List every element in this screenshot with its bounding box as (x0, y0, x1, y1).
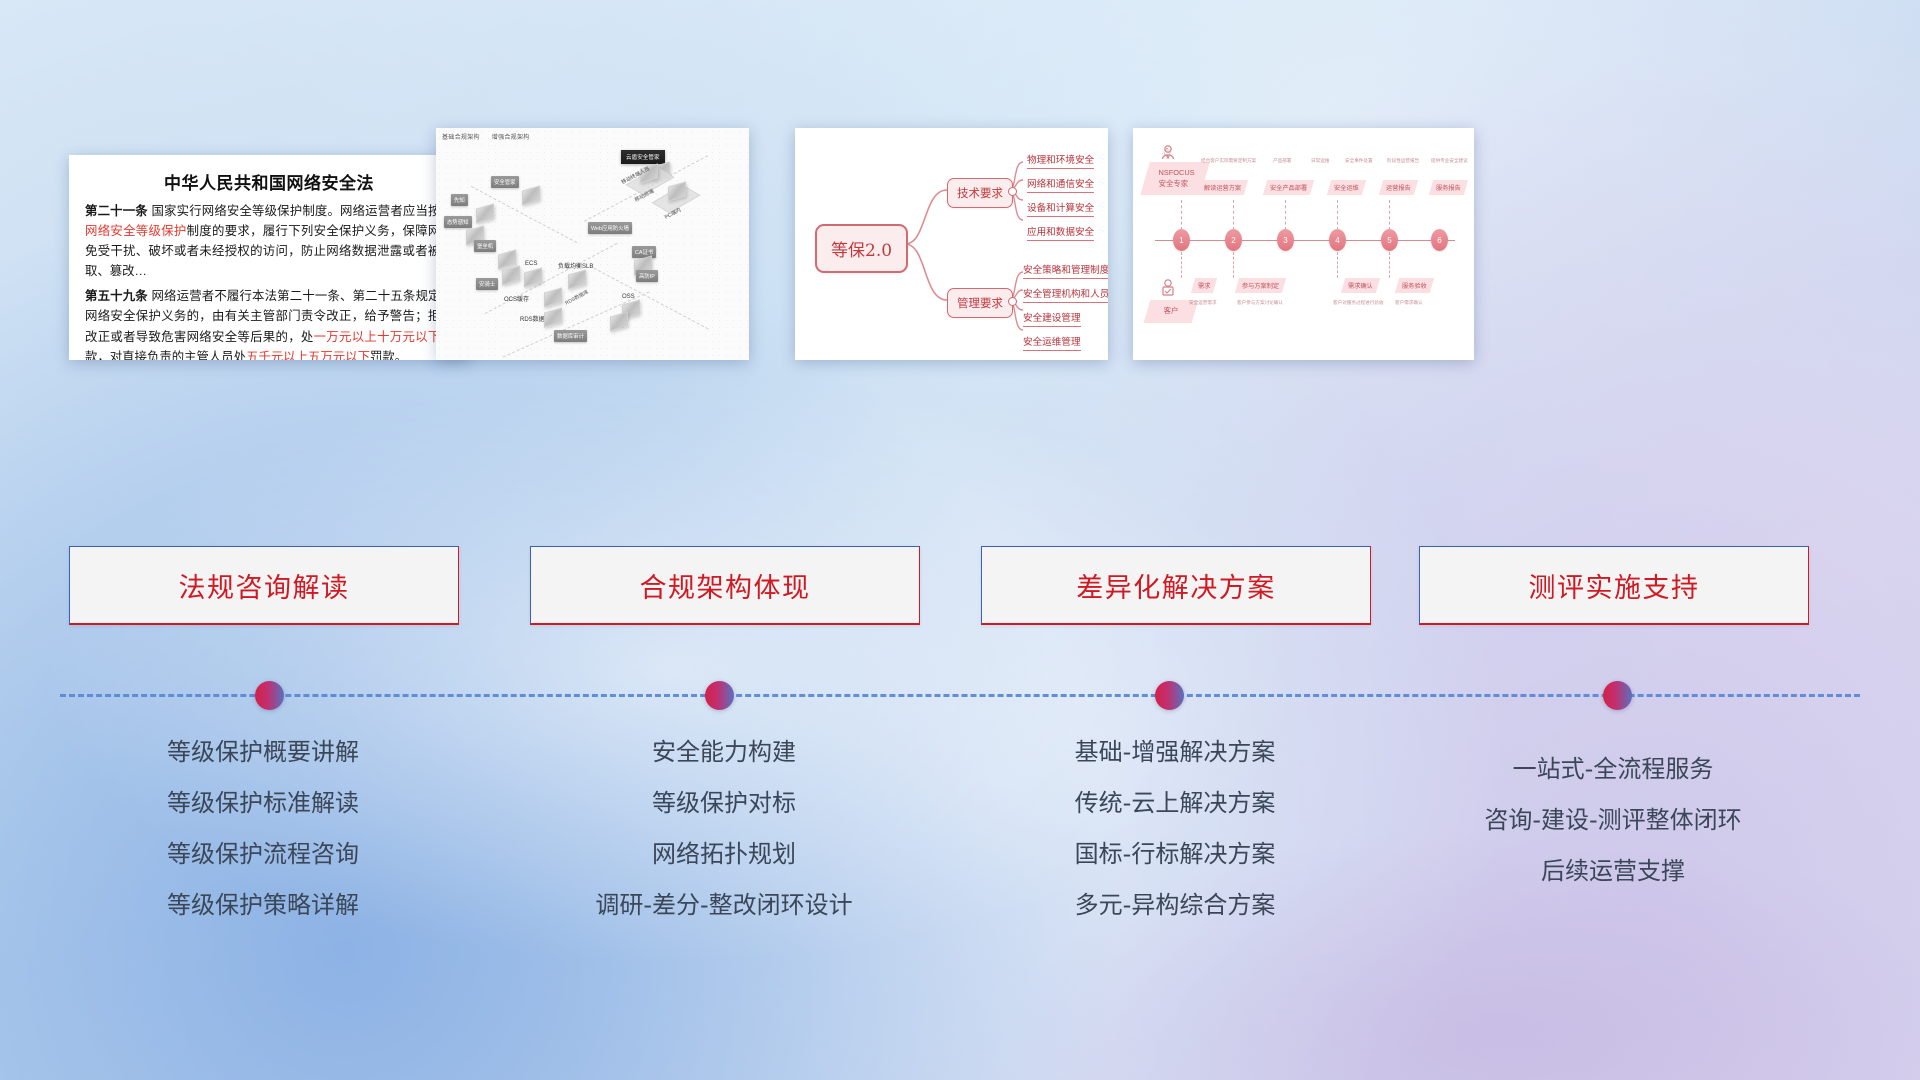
header-box-2[interactable]: 合规架构体现 (530, 546, 920, 625)
list-item: 等级保护标准解读 (69, 791, 457, 815)
list-item: 多元-异构综合方案 (981, 893, 1369, 917)
stage-tag-label: 运营报告 (1386, 183, 1411, 192)
timeline-step: 4 (1329, 229, 1346, 251)
node-anqishi: 安骑士 (476, 278, 498, 290)
timeline-step: 3 (1277, 229, 1294, 251)
stage-tag-bottom: 服务验收 (1395, 278, 1434, 293)
mindmap-leaf: 安全运维管理 (1023, 334, 1081, 351)
law-title: 中华人民共和国网络安全法 (85, 169, 453, 194)
timeline-connector (1233, 252, 1234, 278)
timeline-connector (1233, 200, 1234, 230)
list-item: 调研-差分-整改闭环设计 (530, 893, 918, 917)
column-2: 安全能力构建 等级保护对标 网络拓扑规划 调研-差分-整改闭环设计 (530, 740, 918, 944)
column-4: 一站式-全流程服务 咨询-建设-测评整体闭环 后续运营支撑 (1419, 757, 1807, 910)
law-article-59-label: 第五十九条 (85, 289, 148, 303)
list-item: 一站式-全流程服务 (1419, 757, 1807, 781)
customer-avatar-icon (1159, 278, 1177, 296)
timeline-connector (1389, 252, 1390, 278)
timeline-connector (1181, 252, 1182, 278)
node-ocs-cache: OCS缓存 (504, 294, 529, 303)
architecture-header-basic: 基础合规架构 (442, 135, 480, 141)
node-anti-ddos-ip: 高防IP (636, 270, 658, 282)
list-item: 安全能力构建 (530, 740, 918, 764)
header-label-4: 测评实施支持 (1529, 566, 1700, 605)
list-item: 网络拓扑规划 (530, 842, 918, 866)
mindmap-leaf: 安全建设管理 (1023, 310, 1081, 327)
stage-note: 客户对服务过程进行验收 (1333, 300, 1384, 306)
list-item: 后续运营支撑 (1419, 859, 1807, 883)
timeline-connector (1285, 200, 1286, 230)
mindmap-branch-technical: 技术要求 (947, 178, 1013, 208)
customer-label: 客户 (1154, 306, 1188, 317)
card-compliance-architecture[interactable]: 基础合规架构 增强合规架构 云盾安全管家 安全管家 先知 态势感知 堡垒机 安骑… (436, 128, 749, 360)
stage-note: 日常运维 (1311, 158, 1329, 164)
node-ecs: ECS (525, 261, 537, 267)
timeline-connector (1389, 200, 1390, 230)
node-slb: 负载均衡SLB (558, 261, 593, 270)
stage-tag-label: 需求确认 (1348, 281, 1373, 290)
stage-tag-top: 安全产品部署 (1263, 180, 1314, 195)
column-1: 等级保护概要讲解 等级保护标准解读 等级保护流程咨询 等级保护策略详解 (69, 740, 457, 944)
stage-tag-label: 参与方案制定 (1242, 281, 1279, 290)
mindmap-leaf: 网络和通信安全 (1027, 176, 1094, 193)
law-article-59-text-c: 罚款。 (370, 350, 407, 360)
timeline-connector (1181, 200, 1182, 230)
law-article-21-text-a: 国家实行网络安全等级保护制度。网络运营者应当按照 (148, 204, 453, 218)
timeline-dot-3[interactable] (1155, 681, 1184, 710)
node-bastion-host: 堡垒机 (474, 240, 496, 252)
stage-tag-top: 服务报告 (1429, 180, 1468, 195)
header-box-1[interactable]: 法规咨询解读 (69, 546, 459, 625)
mindmap-leaf: 应用和数据安全 (1027, 224, 1094, 241)
stage-tag-bottom: 需求 (1191, 278, 1218, 293)
list-item: 咨询-建设-测评整体闭环 (1419, 808, 1807, 832)
header-label-1: 法规咨询解读 (179, 566, 350, 605)
law-paragraph-59: 第五十九条 网络运营者不履行本法第二十一条、第二十五条规定的网络安全保护义务的，… (85, 286, 453, 360)
mindmap-root-node: 等保2.0 (815, 224, 908, 273)
law-fine-range-1: 一万元以上十万元以下 (314, 330, 441, 344)
mindmap-ring-icon (1008, 187, 1017, 196)
stage-tag-label: 解读运营方案 (1204, 183, 1241, 192)
architecture-header: 基础合规架构 增强合规架构 (442, 132, 540, 141)
header-label-2: 合规架构体现 (640, 566, 811, 605)
timeline-connector (1337, 200, 1338, 230)
expert-avatar-icon: ★ (1159, 144, 1177, 162)
law-paragraph-21: 第二十一条 国家实行网络安全等级保护制度。网络运营者应当按照网络安全等级保护制度… (85, 201, 453, 281)
mindmap-leaf: 物理和环境安全 (1027, 152, 1094, 169)
header-box-4[interactable]: 测评实施支持 (1419, 546, 1809, 625)
card-mindmap-dengbao[interactable]: 等保2.0 技术要求 物理和环境安全 网络和通信安全 设备和计算安全 应用和数据… (795, 128, 1108, 360)
stage-tag-bottom: 参与方案制定 (1235, 278, 1286, 293)
stage-note: 安全运营需求 (1189, 300, 1217, 306)
timeline-step: 5 (1381, 229, 1398, 251)
list-item: 传统-云上解决方案 (981, 791, 1369, 815)
mindmap-leaf: 安全管理机构和人员 (1023, 286, 1108, 303)
node-security-butler: 安全管家 (491, 176, 519, 188)
mindmap-leaf: 安全策略和管理制度 (1023, 262, 1108, 279)
mindmap-branch-management: 管理要求 (947, 288, 1013, 318)
stage-note: 阶段性运营报告 (1387, 158, 1419, 164)
timeline-step: 2 (1225, 229, 1242, 251)
list-item: 等级保护策略详解 (69, 893, 457, 917)
stage-tag-label: 安全运维 (1334, 183, 1359, 192)
mindmap-ring-icon (1008, 297, 1017, 306)
list-item: 等级保护流程咨询 (69, 842, 457, 866)
node-oss: OSS (622, 294, 635, 300)
list-item: 国标-行标解决方案 (981, 842, 1369, 866)
node-db-audit: 数据库审计 (554, 330, 587, 342)
expert-line2: 安全专家 (1150, 179, 1196, 190)
node-situation-awareness: 态势感知 (444, 216, 472, 228)
law-article-21-highlight: 网络安全等级保护 (85, 224, 187, 238)
stage-note: 提供专业安全建议 (1431, 158, 1468, 164)
header-box-3[interactable]: 差异化解决方案 (981, 546, 1371, 625)
column-3: 基础-增强解决方案 传统-云上解决方案 国标-行标解决方案 多元-异构综合方案 (981, 740, 1369, 944)
stage-tag-top: 安全运维 (1327, 180, 1366, 195)
stage-tag-label: 安全产品部署 (1270, 183, 1307, 192)
timeline-dot-2[interactable] (705, 681, 734, 710)
law-fine-range-2: 五千元以上五万元以下 (246, 350, 370, 360)
header-label-3: 差异化解决方案 (1076, 566, 1276, 605)
card-assessment-timeline[interactable]: NSFOCUS 安全专家 ☃ ★ 解读运营方案 安全产品部署 安全运维 运营报告… (1133, 128, 1474, 360)
stage-note: 客户需求确认 (1395, 300, 1423, 306)
list-item: 等级保护概要讲解 (69, 740, 457, 764)
stage-tag-top: 运营报告 (1379, 180, 1418, 195)
node-xianzhi: 先知 (451, 194, 468, 206)
node-ca-cert: CA证书 (632, 246, 656, 258)
timeline-dot-1[interactable] (255, 681, 284, 710)
stage-tag-top: 解读运营方案 (1197, 180, 1248, 195)
stage-tag-bottom: 需求确认 (1341, 278, 1380, 293)
node-cloud-shield: 云盾安全管家 (621, 150, 665, 164)
node-waf: Web应用防火墙 (588, 222, 632, 234)
stage-tag-label: 需求 (1198, 281, 1210, 290)
timeline-rail (1155, 240, 1455, 241)
timeline-step: 6 (1431, 229, 1448, 251)
timeline-dot-4[interactable] (1603, 681, 1632, 710)
list-item: 等级保护对标 (530, 791, 918, 815)
stage-tag-label: 服务报告 (1436, 183, 1461, 192)
expert-line1: NSFOCUS (1154, 168, 1200, 179)
stage-note: 结合客户实际需要定制方案 (1201, 158, 1256, 164)
timeline-dashed-line (60, 694, 1860, 697)
stage-note: 安全事件处置 (1345, 158, 1373, 164)
list-item: 基础-增强解决方案 (981, 740, 1369, 764)
timeline-connector (1337, 252, 1338, 278)
mindmap-leaf: 设备和计算安全 (1027, 200, 1094, 217)
timeline-step: 1 (1173, 229, 1190, 251)
card-cybersecurity-law[interactable]: 中华人民共和国网络安全法 第二十一条 国家实行网络安全等级保护制度。网络运营者应… (69, 155, 469, 360)
svg-text:★: ★ (1165, 154, 1170, 161)
stage-tag-label: 服务验收 (1402, 281, 1427, 290)
architecture-header-enhanced: 增强合规架构 (492, 135, 530, 141)
stage-note: 产品部署 (1273, 158, 1291, 164)
stage-note: 客户参与方案讨论确认 (1237, 300, 1283, 306)
law-article-21-label: 第二十一条 (85, 204, 148, 218)
slide-canvas: 中华人民共和国网络安全法 第二十一条 国家实行网络安全等级保护制度。网络运营者应… (0, 0, 1920, 1080)
